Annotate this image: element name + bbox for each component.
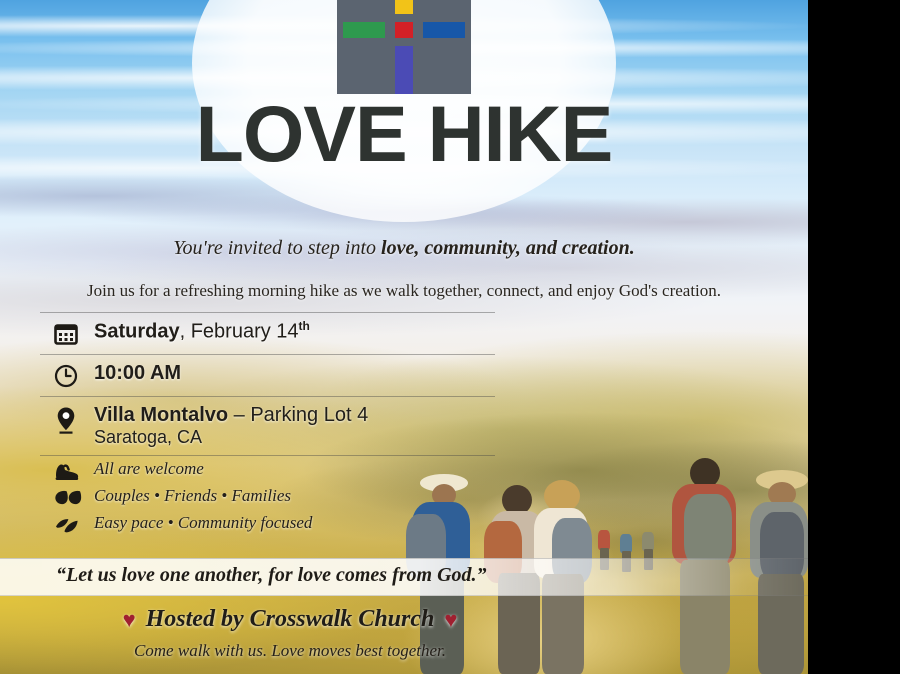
feature-row-groups: Couples • Friends • Families xyxy=(40,483,495,510)
logo-bar-top xyxy=(395,0,413,14)
heart-icon-right: ♥ xyxy=(444,609,457,631)
map-pin-icon xyxy=(54,404,94,436)
hosted-by-line: ♥ Hosted by Crosswalk Church ♥ xyxy=(0,606,580,633)
two-leaves-icon xyxy=(54,486,94,508)
crosswalk-cross-logo xyxy=(337,0,471,94)
logo-quadrant-bottom-right xyxy=(421,44,471,94)
feature-label-groups: Couples • Friends • Families xyxy=(94,486,495,506)
feature-row-welcome: All are welcome xyxy=(40,456,495,483)
subline: Join us for a refreshing morning hike as… xyxy=(0,281,808,301)
detail-row-location: Villa Montalvo – Parking Lot 4 Saratoga,… xyxy=(40,397,495,455)
logo-bar-bottom-purple xyxy=(395,46,413,94)
feature-label-welcome: All are welcome xyxy=(94,459,495,479)
love-hike-poster: LOVE HIKE You're invited to step into lo… xyxy=(0,0,808,674)
closing-line: Come walk with us. Love moves best toget… xyxy=(0,641,580,661)
feature-row-pace: Easy pace • Community focused xyxy=(40,510,495,537)
detail-row-time: 10:00 AM xyxy=(40,355,495,396)
leaf-sprig-icon xyxy=(54,513,94,535)
date-superscript: th xyxy=(299,319,310,333)
date-day: Saturday xyxy=(94,321,180,343)
date-rest: , February 14 xyxy=(180,321,299,343)
location-city: Saratoga, CA xyxy=(94,427,495,449)
calendar-icon xyxy=(54,320,94,346)
logo-bar-right-blue xyxy=(423,22,465,38)
location-lot: – Parking Lot 4 xyxy=(228,404,368,426)
heart-icon-left: ♥ xyxy=(123,609,136,631)
logo-quadrant-top-left xyxy=(337,0,387,16)
scripture-quote: “Let us love one another, for love comes… xyxy=(56,564,576,587)
location-line-1: Villa Montalvo – Parking Lot 4 xyxy=(94,404,495,427)
detail-text-location: Villa Montalvo – Parking Lot 4 Saratoga,… xyxy=(94,404,495,449)
logo-bar-left-green xyxy=(343,22,385,38)
detail-row-date: Saturday, February 14th xyxy=(40,313,495,354)
logo-quadrant-bottom-left xyxy=(337,44,387,94)
poster-title: LOVE HIKE xyxy=(0,88,808,180)
clock-icon xyxy=(54,362,94,388)
tagline-lead: You're invited to step into xyxy=(173,237,381,259)
event-details: Saturday, February 14th 10:00 AM xyxy=(40,312,495,537)
detail-text-time: 10:00 AM xyxy=(94,362,495,385)
location-venue: Villa Montalvo xyxy=(94,404,228,426)
detail-text-date: Saturday, February 14th xyxy=(94,320,495,344)
logo-center-red-square xyxy=(395,22,413,38)
logo-quadrant-top-right xyxy=(421,0,471,16)
time-value: 10:00 AM xyxy=(94,362,181,384)
tagline-emphasis: love, community, and creation. xyxy=(381,237,635,259)
hosted-by-text: Hosted by Crosswalk Church xyxy=(146,606,435,633)
hiking-boot-icon xyxy=(54,459,94,481)
feature-label-pace: Easy pace • Community focused xyxy=(94,513,495,533)
tagline: You're invited to step into love, commun… xyxy=(0,237,808,260)
